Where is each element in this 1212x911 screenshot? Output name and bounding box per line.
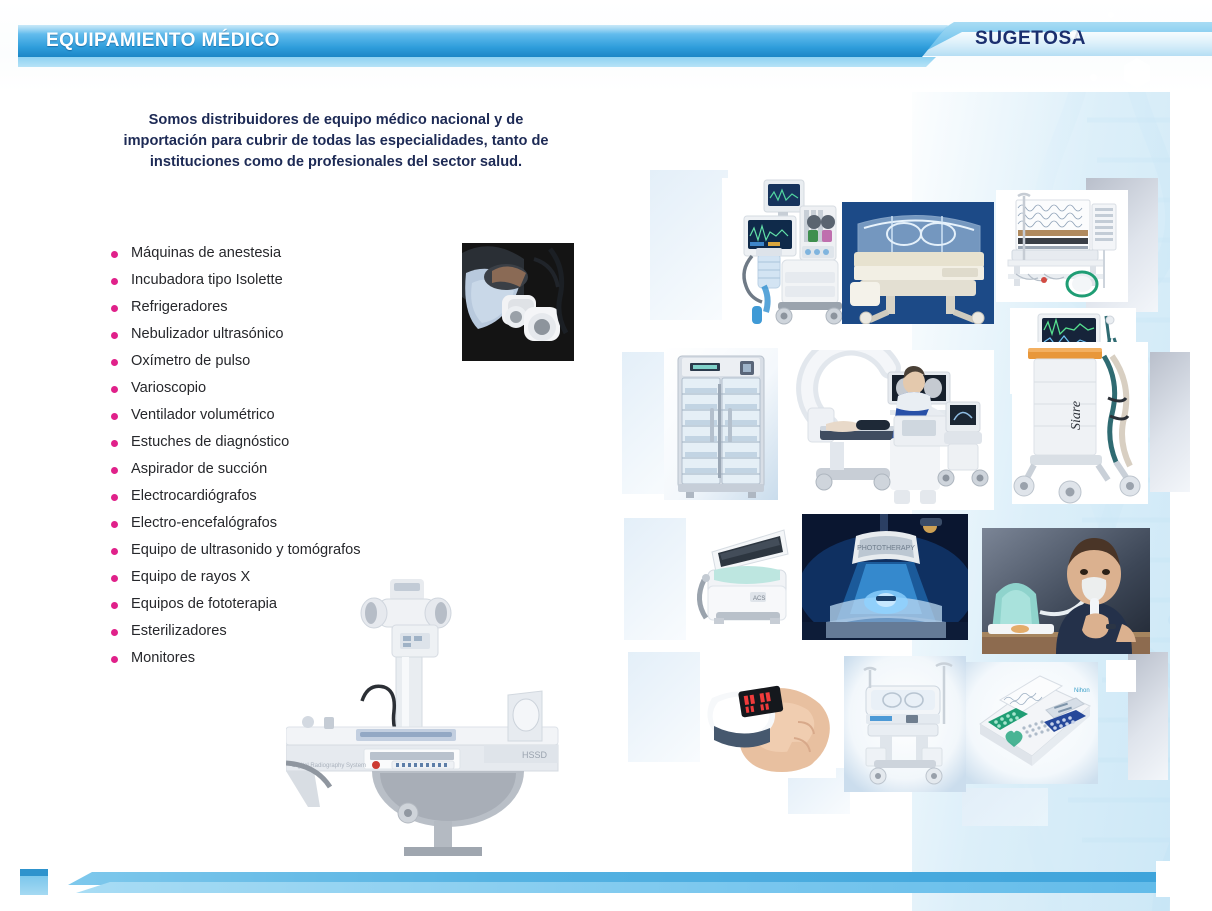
list-item: Aspirador de succión bbox=[106, 456, 436, 483]
child-with-nebulizer-photo bbox=[982, 528, 1150, 654]
list-item: Electro-encefalógrafos bbox=[106, 510, 436, 537]
list-item-label: Aspirador de succión bbox=[131, 461, 267, 477]
list-item: Refrigeradores bbox=[106, 294, 436, 321]
fingertip-pulse-oximeter-photo bbox=[700, 668, 836, 778]
neonatal-incubator-photo bbox=[844, 656, 966, 792]
list-item: Electrocardiógrafos bbox=[106, 483, 436, 510]
svg-text:Siare: Siare bbox=[1069, 401, 1084, 430]
list-item-label: Equipo de ultrasonido y tomógrafos bbox=[131, 542, 361, 558]
svg-text:ACS: ACS bbox=[753, 596, 765, 602]
brochure-page: EQUIPAMIENTO MÉDICO SUGETOSA Somos distr… bbox=[0, 0, 1212, 911]
list-item: Estuches de diagnóstico bbox=[106, 429, 436, 456]
bullet-icon bbox=[111, 251, 118, 258]
bullet-icon bbox=[111, 359, 118, 366]
medical-refrigerator-photo bbox=[664, 348, 778, 500]
list-item: Incubadora tipo Isolette bbox=[106, 267, 436, 294]
page-header: EQUIPAMIENTO MÉDICO SUGETOSA bbox=[0, 0, 1212, 92]
bullet-icon bbox=[111, 413, 118, 420]
intro-paragraph: Somos distribuidores de equipo médico na… bbox=[118, 110, 554, 173]
bullet-icon bbox=[111, 521, 118, 528]
decor-panel bbox=[628, 652, 700, 762]
decor-panel bbox=[624, 518, 686, 640]
decor-panel bbox=[1106, 660, 1136, 692]
list-item-label: Monitores bbox=[131, 650, 195, 666]
anesthesia-machine-photo bbox=[722, 178, 846, 328]
bullet-icon bbox=[111, 656, 118, 663]
list-item-label: Oxímetro de pulso bbox=[131, 353, 250, 369]
bullet-icon bbox=[111, 575, 118, 582]
decor-panel bbox=[962, 788, 1048, 826]
list-item: Nebulizador ultrasónico bbox=[106, 321, 436, 348]
surgeon-with-varioscope-photo bbox=[462, 243, 574, 361]
list-item-label: Electrocardiógrafos bbox=[131, 488, 257, 504]
bullet-icon bbox=[111, 386, 118, 393]
svg-text:PHOTOTHERAPY: PHOTOTHERAPY bbox=[857, 545, 915, 552]
dot-decoration-icon bbox=[1070, 30, 1079, 39]
page-title: EQUIPAMIENTO MÉDICO bbox=[46, 28, 280, 54]
bullet-icon bbox=[111, 278, 118, 285]
bullet-icon bbox=[111, 494, 118, 501]
list-item: Ventilador volumétrico bbox=[106, 402, 436, 429]
isolette-incubator-photo bbox=[842, 202, 994, 324]
page-footer bbox=[0, 841, 1212, 911]
company-logo: SUGETOSA bbox=[975, 28, 1086, 50]
footer-corner-block bbox=[1156, 861, 1192, 897]
list-item-label: Refrigeradores bbox=[131, 299, 228, 315]
dot-decoration-icon bbox=[1108, 12, 1114, 18]
list-item-label: Electro-encefalógrafos bbox=[131, 515, 277, 531]
list-item-label: Estuches de diagnóstico bbox=[131, 434, 289, 450]
list-item-label: Equipos de fototerapia bbox=[131, 596, 277, 612]
bullet-icon bbox=[111, 467, 118, 474]
list-item: Oxímetro de pulso bbox=[106, 348, 436, 375]
list-item: Equipo de ultrasonido y tomógrafos bbox=[106, 537, 436, 564]
header-underbar bbox=[18, 57, 936, 67]
list-item-label: Incubadora tipo Isolette bbox=[131, 272, 283, 288]
list-item-label: Ventilador volumétrico bbox=[131, 407, 275, 423]
bullet-icon bbox=[111, 440, 118, 447]
svg-text:Nihon: Nihon bbox=[1074, 688, 1090, 694]
volumetric-ventilator-photo: Siare bbox=[1012, 342, 1148, 504]
list-item: Varioscopio bbox=[106, 375, 436, 402]
list-item-label: Nebulizador ultrasónico bbox=[131, 326, 284, 342]
bullet-icon bbox=[111, 332, 118, 339]
list-item-label: Esterilizadores bbox=[131, 623, 227, 639]
eeg-machine-photo bbox=[996, 190, 1128, 302]
decor-panel bbox=[1150, 352, 1190, 492]
list-item-label: Máquinas de anestesia bbox=[131, 245, 281, 261]
phototherapy-unit-photo: PHOTOTHERAPY bbox=[802, 514, 968, 640]
bullet-icon bbox=[111, 548, 118, 555]
decor-panel bbox=[650, 170, 728, 320]
list-item-label: Varioscopio bbox=[131, 380, 206, 396]
x-ray-radiography-system-photo: HSSD Digital Radiography System bbox=[286, 575, 586, 865]
bullet-icon bbox=[111, 602, 118, 609]
list-item: Máquinas de anestesia bbox=[106, 240, 436, 267]
list-item-label: Equipo de rayos X bbox=[131, 569, 250, 585]
dot-decoration-icon bbox=[1090, 74, 1097, 81]
c-arm-fluoroscopy-photo bbox=[794, 350, 994, 510]
footer-square bbox=[20, 876, 48, 895]
footer-swoosh-lower bbox=[76, 882, 1176, 893]
bullet-icon bbox=[111, 629, 118, 636]
svg-text:HSSD: HSSD bbox=[522, 750, 548, 760]
transport-cooler-box-photo: ACS bbox=[690, 520, 800, 638]
bullet-icon bbox=[111, 305, 118, 312]
electrocardiograph-photo: Nihon bbox=[966, 662, 1098, 784]
